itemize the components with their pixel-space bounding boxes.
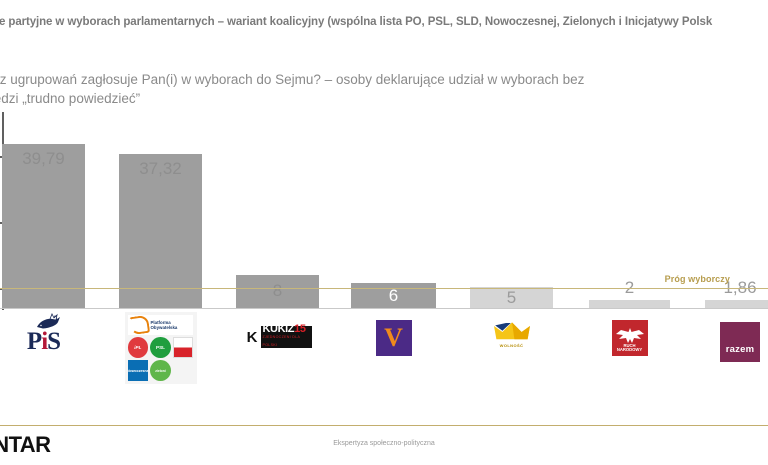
razem-wordmark: razem — [726, 344, 754, 355]
platforma-obywatelska-logo: Platforma Obywatelska — [128, 315, 194, 335]
footer-divider — [0, 425, 768, 426]
logo-cell-kukiz15: K KUKIZ15 ZJEDNOCZENI DLA POLSKI — [236, 312, 319, 348]
po-wordmark: Platforma Obywatelska — [151, 320, 178, 330]
psl-logo: PSL — [150, 337, 171, 358]
nowoczesna-logo: Nowoczesna — [128, 360, 149, 381]
kukiz-subtitle: ZJEDNOCZENI DLA POLSKI — [263, 333, 312, 349]
footer-note: Ekspertyza społeczno-polityczna — [0, 440, 768, 447]
pis-wordmark-i: i — [41, 328, 47, 355]
bar-Wiosna: 6 — [351, 283, 436, 308]
logo-cell-pis: PiS — [2, 312, 85, 366]
kukiz-wordmark: KUKIZ15 ZJEDNOCZENI DLA POLSKI — [261, 325, 312, 349]
wolnosc-wordmark: WOLNOŚĆ — [488, 343, 536, 348]
bar-Kukiz'15: 8 — [236, 275, 319, 308]
bar-Wolność: 5 — [470, 287, 553, 308]
po-swoosh-icon — [128, 315, 149, 335]
ruch-wordmark: RUCH NARODOWY — [612, 344, 648, 353]
wiosna-logo: V — [376, 320, 412, 356]
logo-cell-wiosna: V — [351, 312, 436, 356]
electoral-threshold-line — [0, 288, 768, 289]
kukiz15-logo: K KUKIZ15 ZJEDNOCZENI DLA POLSKI — [244, 326, 312, 348]
ipl-logo: iPL — [128, 337, 149, 358]
party-logo-row: PiS Platforma Obywatelska iPL PSL Nowocz… — [0, 312, 768, 408]
chart-baseline — [0, 308, 768, 309]
bar-value-label: 5 — [470, 288, 553, 308]
pis-logo: PiS — [9, 312, 79, 366]
kukiz-k-mark: K — [244, 326, 261, 348]
koalicja-logo: Platforma Obywatelska iPL PSL Nowoczesna… — [125, 312, 197, 384]
logo-cell-koalicja: Platforma Obywatelska iPL PSL Nowoczesna… — [119, 312, 202, 384]
wolnosc-logo: WOLNOŚĆ — [488, 320, 536, 356]
bar-value-label: 39,79 — [2, 149, 85, 169]
pis-wordmark: PiS — [9, 328, 79, 356]
razem-logo: razem — [720, 322, 760, 362]
ruch-narodowy-logo: RUCH NARODOWY — [612, 320, 648, 356]
slide-root: ferencje partyjne w wyborach parlamentar… — [0, 0, 768, 465]
electoral-threshold-label: Próg wyborczy — [665, 274, 730, 284]
sld-logo — [173, 337, 194, 358]
logo-cell-razem: razem — [705, 312, 768, 362]
logo-cell-wolnosc: WOLNOŚĆ — [470, 312, 553, 356]
bar-value-label: 37,32 — [119, 159, 202, 179]
bar-Koalicja: 37,32 — [119, 154, 202, 308]
bars-layer: 39,7937,3286521,86 — [0, 0, 768, 308]
zieloni-logo: zieloni — [150, 360, 171, 381]
po-line-2: Obywatelska — [151, 325, 178, 330]
kukiz-name-line: KUKIZ15 — [263, 325, 312, 333]
bar-value-label: 8 — [236, 281, 319, 301]
logo-cell-ruch-narodowy: RUCH NARODOWY — [589, 312, 670, 356]
ruch-line-2: NARODOWY — [612, 348, 648, 353]
bar-PiS: 39,79 — [2, 144, 85, 308]
crown-icon — [494, 320, 530, 344]
